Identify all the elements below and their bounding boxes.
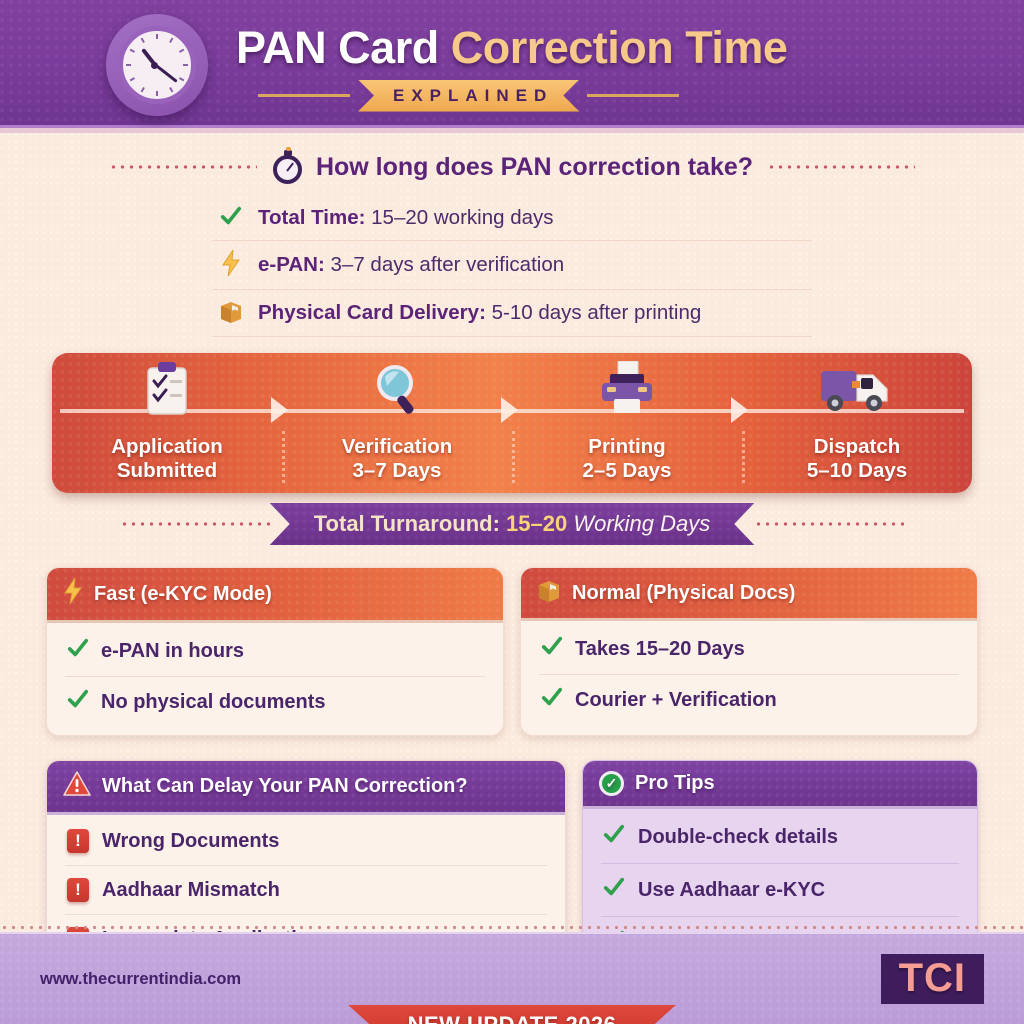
arrow-icon (501, 397, 518, 423)
summary-label: Total Time: (258, 206, 365, 229)
package-box-icon (216, 299, 246, 327)
card-body: Takes 15–20 Days Courier + Verification (521, 621, 977, 733)
card-header: Fast (e-KYC Mode) (47, 568, 503, 623)
timeline-step-application: ApplicationSubmitted (52, 353, 282, 493)
list-item: e-PAN: 3–7 days after verification (212, 241, 812, 290)
comparison-cards: Fast (e-KYC Mode) e-PAN in hours No phys… (46, 567, 978, 736)
card-title: Normal (Physical Docs) (572, 582, 795, 605)
list-item-label: Takes 15–20 Days (575, 638, 745, 661)
total-turnaround-row: Total Turnaround: 15–20 Working Days (0, 503, 1024, 545)
ribbon-suffix: Working Days (567, 511, 710, 536)
green-check-icon (67, 637, 89, 665)
magnifier-icon (371, 363, 423, 417)
list-item: No physical documents (65, 677, 485, 727)
list-item: Double-check details (601, 811, 959, 864)
printer-icon (596, 363, 658, 417)
stopwatch-icon (271, 150, 305, 184)
green-check-icon (603, 876, 625, 904)
panel-title: What Can Delay Your PAN Correction? (102, 775, 468, 798)
page-title-part1: PAN Card (236, 22, 451, 73)
list-item: Total Time: 15–20 working days (212, 196, 812, 241)
ribbon-rule-right (587, 94, 679, 97)
list-item: Use Aadhaar e-KYC (601, 864, 959, 917)
card-normal-physical: Normal (Physical Docs) Takes 15–20 Days … (520, 567, 978, 736)
delivery-truck-icon (819, 363, 895, 417)
infographic-page: PAN Card Correction Time EXPLAINED How l… (0, 0, 1024, 1024)
exclamation-badge-icon: ! (67, 878, 89, 902)
list-item-label: No physical documents (101, 691, 326, 714)
lightning-bolt-icon (216, 250, 246, 280)
summary-value: 5-10 days after printing (492, 301, 702, 324)
list-item-label: Double-check details (638, 826, 838, 849)
list-item: ! Aadhaar Mismatch (65, 866, 547, 915)
green-check-icon (541, 686, 563, 714)
footer-website-url: www.thecurrentindia.com (40, 970, 241, 989)
card-body: e-PAN in hours No physical documents (47, 623, 503, 735)
clipboard-icon (140, 363, 194, 417)
footer-dotted-rule (0, 925, 1024, 930)
timeline-step-label: Dispatch5–10 Days (807, 435, 907, 483)
dotted-rule-left (109, 165, 257, 169)
header-title-block: PAN Card Correction Time EXPLAINED (236, 14, 787, 112)
lightning-bolt-icon (63, 578, 83, 610)
tci-logo: TCI (881, 954, 984, 1004)
summary-value: 3–7 days after verification (331, 253, 565, 276)
process-timeline: ApplicationSubmitted Verification3–7 Day… (52, 353, 972, 493)
list-item-label: Wrong Documents (102, 830, 279, 853)
green-check-icon (67, 688, 89, 716)
arrow-icon (731, 397, 748, 423)
panel-header: What Can Delay Your PAN Correction? (47, 761, 565, 815)
dotted-rule-right (754, 522, 904, 526)
circle-check-icon: ✓ (599, 771, 624, 796)
summary-list: Total Time: 15–20 working days e-PAN: 3–… (212, 196, 812, 337)
card-title: Fast (e-KYC Mode) (94, 583, 272, 606)
timeline-step-label: ApplicationSubmitted (111, 435, 223, 483)
ribbon-highlight: 15–20 (506, 511, 567, 536)
card-header: Normal (Physical Docs) (521, 568, 977, 621)
section-title: How long does PAN correction take? (271, 150, 753, 184)
section-title-text: How long does PAN correction take? (316, 153, 753, 182)
page-title-part2: Correction Time (451, 22, 788, 73)
list-item-label: Use Aadhaar e-KYC (638, 879, 825, 902)
ribbon-prefix: Total Turnaround: (314, 511, 506, 536)
timeline-step-printing: Printing2–5 Days (512, 353, 742, 493)
list-item: Courier + Verification (539, 675, 959, 725)
timeline-step-dispatch: Dispatch5–10 Days (742, 353, 972, 493)
explained-ribbon-row: EXPLAINED (258, 80, 787, 112)
list-item-label: e-PAN in hours (101, 640, 244, 663)
total-turnaround-ribbon: Total Turnaround: 15–20 Working Days (270, 503, 755, 545)
summary-value: 15–20 working days (371, 206, 553, 229)
dotted-rule-left (120, 522, 270, 526)
header-banner: PAN Card Correction Time EXPLAINED (0, 0, 1024, 128)
new-update-ribbon: – NEW UPDATE 2026 – (348, 1005, 676, 1024)
exclamation-badge-icon: ! (67, 829, 89, 853)
card-fast-ekyc: Fast (e-KYC Mode) e-PAN in hours No phys… (46, 567, 504, 736)
summary-label: e-PAN: (258, 253, 325, 276)
list-item: Physical Card Delivery: 5-10 days after … (212, 290, 812, 337)
timeline-step-label: Printing2–5 Days (583, 435, 672, 483)
panel-title: Pro Tips (635, 772, 715, 795)
list-item: Takes 15–20 Days (539, 624, 959, 675)
list-item: e-PAN in hours (65, 626, 485, 677)
summary-label: Physical Card Delivery: (258, 301, 486, 324)
green-check-icon (216, 205, 246, 231)
clock-icon (106, 14, 208, 116)
panel-header: ✓ Pro Tips (583, 761, 977, 809)
warning-triangle-icon (63, 771, 91, 802)
ribbon-rule-left (258, 94, 350, 97)
green-check-icon (603, 823, 625, 851)
list-item-label: Aadhaar Mismatch (102, 879, 280, 902)
section-title-row: How long does PAN correction take? (0, 150, 1024, 184)
explained-ribbon: EXPLAINED (358, 80, 579, 112)
arrow-icon (271, 397, 288, 423)
list-item-label: Courier + Verification (575, 689, 777, 712)
package-box-icon (537, 578, 561, 608)
timeline-step-verification: Verification3–7 Days (282, 353, 512, 493)
green-check-icon (541, 635, 563, 663)
list-item: ! Wrong Documents (65, 817, 547, 866)
timeline-step-label: Verification3–7 Days (342, 435, 453, 483)
page-title: PAN Card Correction Time (236, 22, 787, 74)
dotted-rule-right (767, 165, 915, 169)
